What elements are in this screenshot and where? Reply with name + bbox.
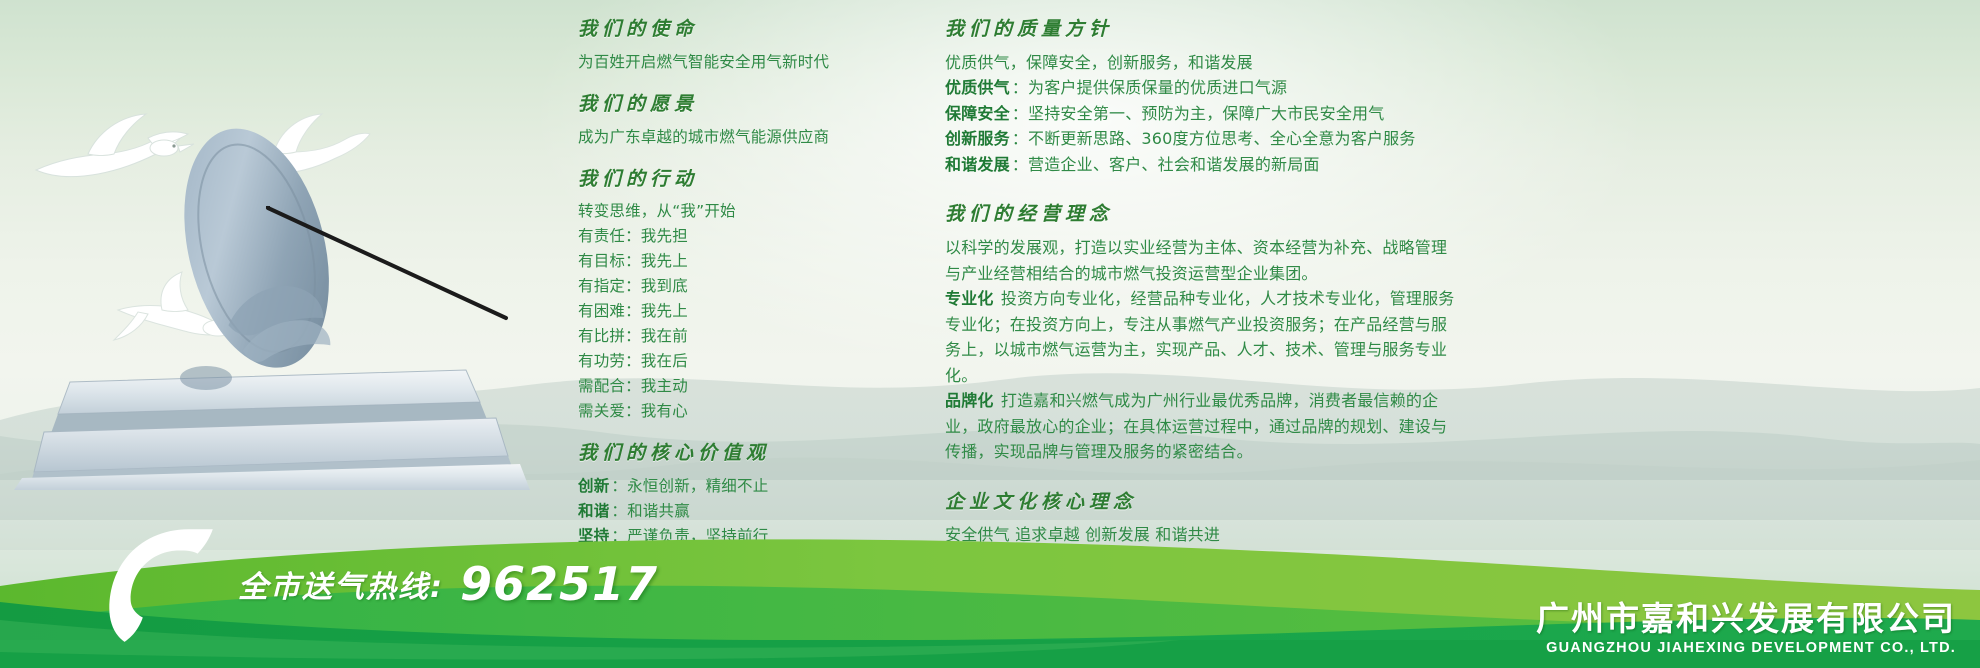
brand-name-en: GUANGZHOU JIAHEXING DEVELOPMENT CO., LTD…	[1536, 638, 1956, 658]
quality-line-5-lead: 和谐发展	[945, 155, 1010, 174]
quality-line-4: 创新服务：不断更新思路、360度方位思考、全心全意为客户服务	[945, 126, 1455, 152]
philosophy-paragraph-3-lead: 品牌化	[945, 391, 994, 410]
hotline-label: 全市送气热线:	[238, 562, 444, 606]
action-line-7: 有功劳：我在后	[578, 349, 908, 374]
philosophy-paragraph-1: 以科学的发展观，打造以实业经营为主体、资本经营为补充、战略管理与产业经营相结合的…	[945, 235, 1455, 286]
quality-line-3-lead: 保障安全	[945, 104, 1010, 123]
heading-quality-policy: 我们的质量方针	[945, 18, 1455, 41]
quality-line-1: 优质供气，保障安全，创新服务，和谐发展	[945, 50, 1455, 76]
philosophy-paragraph-3: 品牌化 打造嘉和兴燃气成为广州行业最优秀品牌，消费者最信赖的企业，政府最放心的企…	[945, 388, 1455, 465]
core-value-2-lead: 和谐	[578, 502, 609, 520]
sundial-monument-image	[10, 120, 530, 490]
quality-line-3: 保障安全：坚持安全第一、预防为主，保障广大市民安全用气	[945, 101, 1455, 127]
core-value-1-lead: 创新	[578, 477, 609, 495]
dove-icon-upper-left	[28, 108, 198, 188]
quality-line-3-text: 坚持安全第一、预防为主，保障广大市民安全用气	[1028, 104, 1384, 123]
quality-line-5-text: 营造企业、客户、社会和谐发展的新局面	[1028, 155, 1320, 174]
block-quality-policy: 我们的质量方针 优质供气，保障安全，创新服务，和谐发展 优质供气：为客户提供保质…	[945, 18, 1455, 177]
action-line-5: 有困难：我先上	[578, 299, 908, 324]
quality-line-4-sep: ：	[1012, 129, 1028, 148]
quality-line-2-sep: ：	[1012, 78, 1028, 97]
hotline-group: 全市送气热线: 962517	[88, 528, 658, 654]
heading-business-philosophy: 我们的经营理念	[945, 203, 1455, 226]
heading-core-values: 我们的核心价值观	[578, 442, 908, 465]
core-value-1-sep: ：	[611, 477, 627, 495]
heading-mission: 我们的使命	[578, 18, 908, 41]
right-text-column: 我们的质量方针 优质供气，保障安全，创新服务，和谐发展 优质供气：为客户提供保质…	[945, 18, 1455, 570]
core-value-1: 创新：永恒创新，精细不止	[578, 474, 908, 499]
heading-culture-core: 企业文化核心理念	[945, 491, 1455, 514]
quality-line-3-sep: ：	[1012, 104, 1028, 123]
quality-line-5: 和谐发展：营造企业、客户、社会和谐发展的新局面	[945, 152, 1455, 178]
dove-icon-lower-left	[108, 270, 248, 352]
block-vision: 我们的愿景 成为广东卓越的城市燃气能源供应商	[578, 93, 908, 150]
action-line-3: 有目标：我先上	[578, 249, 908, 274]
core-value-2-text: 和谐共赢	[627, 502, 690, 520]
quality-line-2-text: 为客户提供保质保量的优质进口气源	[1028, 78, 1287, 97]
quality-line-2: 优质供气：为客户提供保质保量的优质进口气源	[945, 75, 1455, 101]
heading-vision: 我们的愿景	[578, 93, 908, 116]
quality-line-2-lead: 优质供气	[945, 78, 1010, 97]
quality-line-5-sep: ：	[1012, 155, 1028, 174]
middle-text-column: 我们的使命 为百姓开启燃气智能安全用气新时代 我们的愿景 成为广东卓越的城市燃气…	[578, 18, 908, 567]
block-mission: 我们的使命 为百姓开启燃气智能安全用气新时代	[578, 18, 908, 75]
philosophy-paragraph-2: 专业化 投资方向专业化，经营品种专业化，人才技术专业化，管理服务专业化；在投资方…	[945, 286, 1455, 388]
philosophy-paragraph-2-lead: 专业化	[945, 289, 994, 308]
action-line-8: 需配合：我主动	[578, 374, 908, 399]
mission-line-1: 为百姓开启燃气智能安全用气新时代	[578, 50, 908, 75]
block-business-philosophy: 我们的经营理念 以科学的发展观，打造以实业经营为主体、资本经营为补充、战略管理与…	[945, 203, 1455, 464]
vision-line-1: 成为广东卓越的城市燃气能源供应商	[578, 125, 908, 150]
action-line-2: 有责任：我先担	[578, 224, 908, 249]
block-action: 我们的行动 转变思维，从“我”开始 有责任：我先担 有目标：我先上 有指定：我到…	[578, 168, 908, 425]
brand-name-cn: 广州市嘉和兴发展有限公司	[1536, 600, 1956, 638]
philosophy-paragraph-2-text: 投资方向专业化，经营品种专业化，人才技术专业化，管理服务专业化；在投资方向上，专…	[945, 289, 1455, 385]
core-value-2-sep: ：	[611, 502, 627, 520]
core-value-1-text: 永恒创新，精细不止	[627, 477, 768, 495]
action-line-4: 有指定：我到底	[578, 274, 908, 299]
philosophy-paragraph-3-text: 打造嘉和兴燃气成为广州行业最优秀品牌，消费者最信赖的企业，政府最放心的企业；在具…	[945, 391, 1447, 461]
quality-line-4-text: 不断更新思路、360度方位思考、全心全意为客户服务	[1028, 129, 1416, 148]
core-value-2: 和谐：和谐共赢	[578, 499, 908, 524]
heading-action: 我们的行动	[578, 168, 908, 191]
dove-icon-upper-right	[222, 112, 372, 190]
phone-icon	[88, 528, 228, 654]
action-line-6: 有比拼：我在前	[578, 324, 908, 349]
action-line-9: 需关爱：我有心	[578, 399, 908, 424]
action-line-1: 转变思维，从“我”开始	[578, 199, 908, 224]
quality-line-4-lead: 创新服务	[945, 129, 1010, 148]
poster-canvas: 我们的使命 为百姓开启燃气智能安全用气新时代 我们的愿景 成为广东卓越的城市燃气…	[0, 0, 1980, 668]
hotline-number: 962517	[460, 557, 658, 611]
brand-block: 广州市嘉和兴发展有限公司 GUANGZHOU JIAHEXING DEVELOP…	[1536, 600, 1956, 658]
footer-ribbon: 全市送气热线: 962517 广州市嘉和兴发展有限公司 GUANGZHOU JI…	[0, 528, 1980, 668]
